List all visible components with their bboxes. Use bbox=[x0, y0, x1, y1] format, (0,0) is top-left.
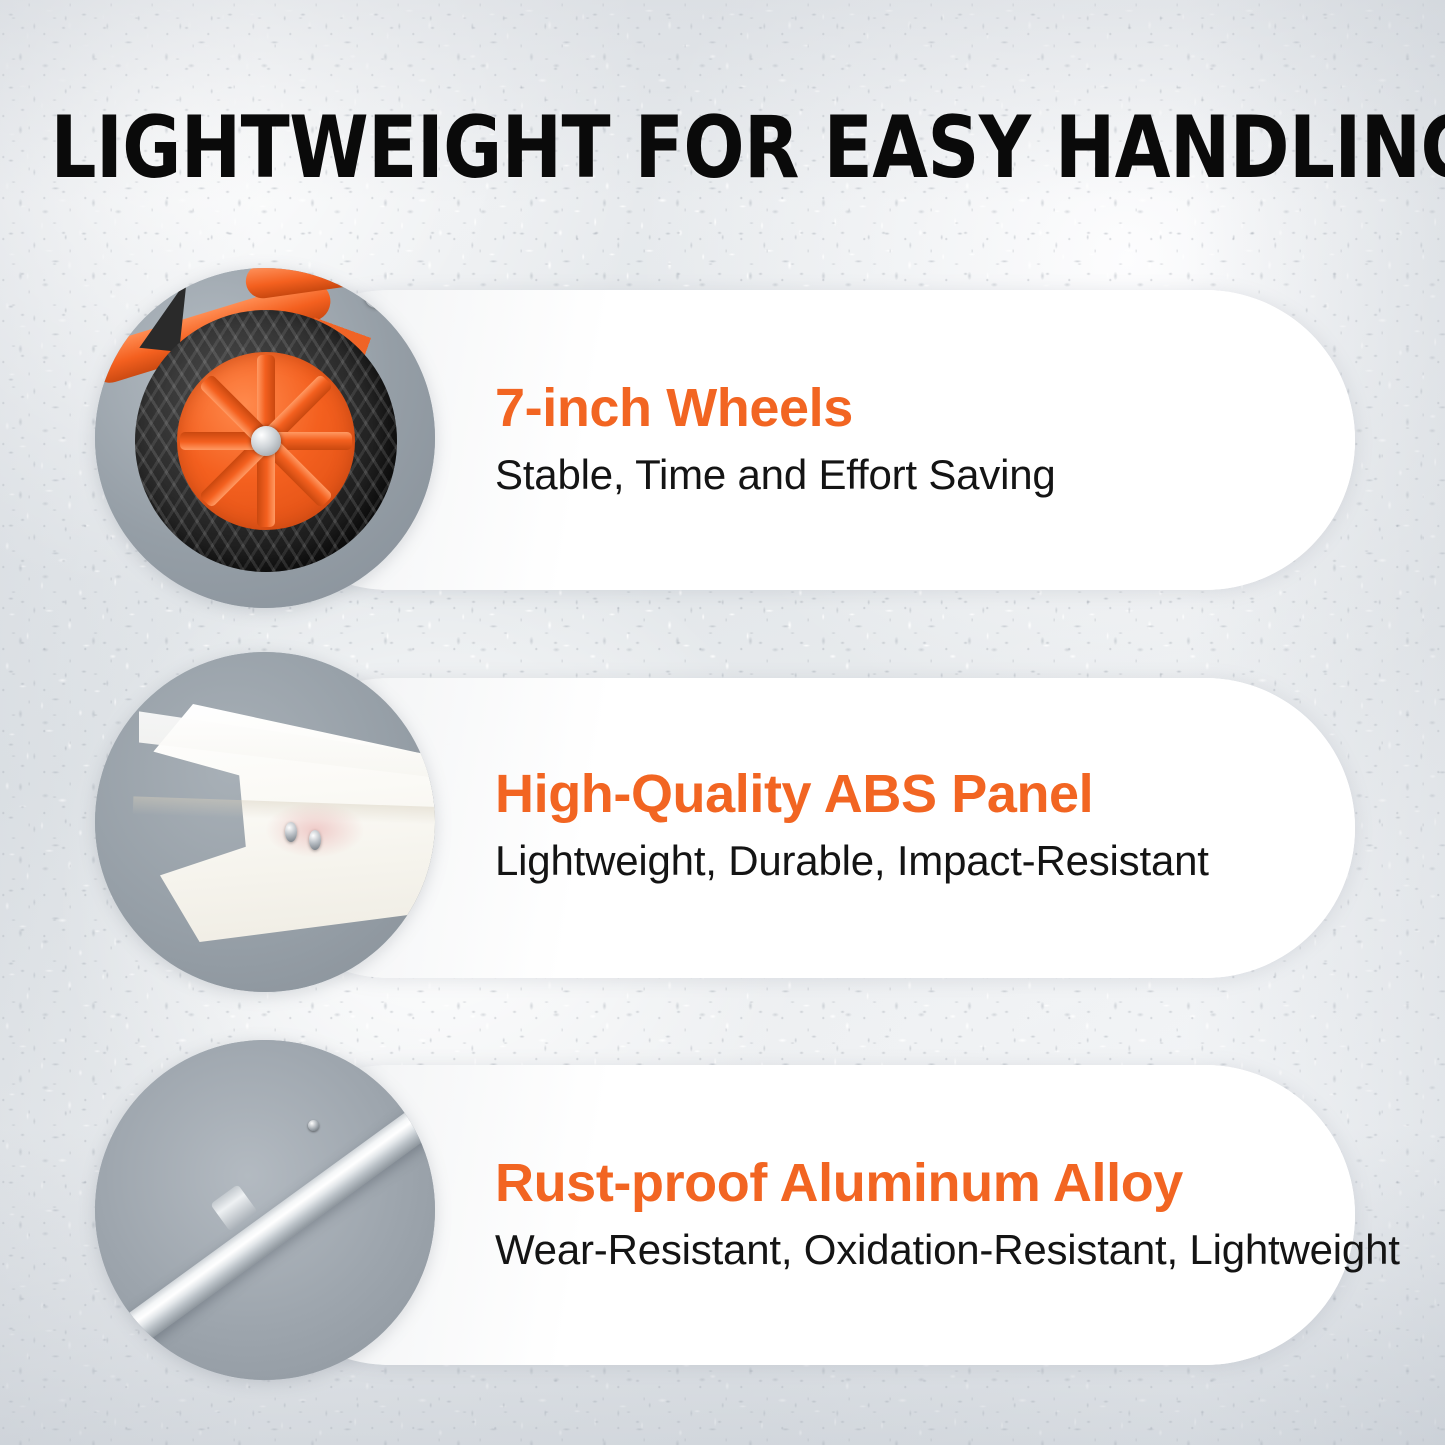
feature-text-3: Rust-proof Aluminum Alloy Wear-Resistant… bbox=[495, 1155, 1375, 1273]
product-feature-poster: LIGHTWEIGHT FOR EASY HANDLING bbox=[0, 0, 1445, 1445]
feature-subtitle: Lightweight, Durable, Impact-Resistant bbox=[495, 837, 1375, 884]
tube-screw bbox=[308, 1120, 319, 1131]
feature-subtitle: Stable, Time and Effort Saving bbox=[495, 451, 1375, 498]
feature-text-1: 7-inch Wheels Stable, Time and Effort Sa… bbox=[495, 380, 1375, 498]
cart-frame-wedge bbox=[139, 276, 186, 352]
panel-rivet bbox=[309, 830, 321, 850]
page-title: LIGHTWEIGHT FOR EASY HANDLING bbox=[51, 105, 1395, 191]
feature-title: Rust-proof Aluminum Alloy bbox=[495, 1155, 1375, 1212]
feature-text-2: High-Quality ABS Panel Lightweight, Dura… bbox=[495, 766, 1375, 884]
wheel-hub-bolt bbox=[251, 426, 281, 456]
bracket-bolt bbox=[365, 286, 387, 308]
abs-panel-photo bbox=[95, 652, 435, 992]
aluminum-handle-photo bbox=[95, 1040, 435, 1380]
feature-title: High-Quality ABS Panel bbox=[495, 766, 1375, 823]
wheel-rim bbox=[177, 352, 355, 530]
feature-title: 7-inch Wheels bbox=[495, 380, 1375, 437]
feature-subtitle: Wear-Resistant, Oxidation-Resistant, Lig… bbox=[495, 1226, 1375, 1273]
panel-rivet bbox=[285, 822, 297, 842]
orange-wheel-photo bbox=[95, 268, 435, 608]
